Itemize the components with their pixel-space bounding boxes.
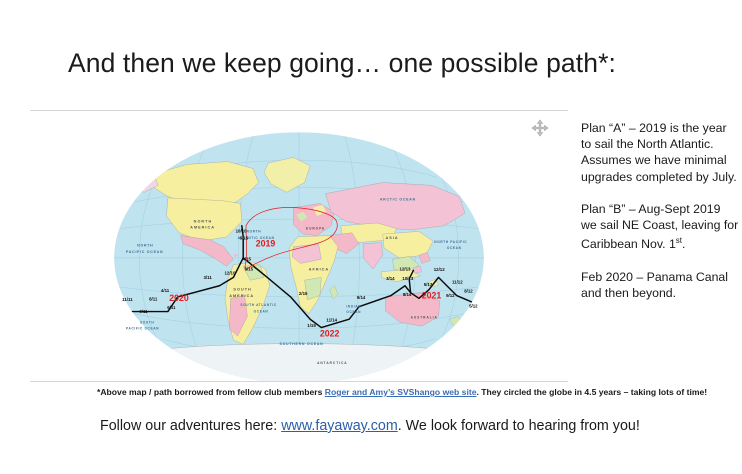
waypoint-label: 11/11 [122, 297, 133, 302]
page-title: And then we keep going… one possible pat… [68, 48, 616, 79]
plan-c-line-2: and then beyond. [581, 285, 742, 301]
waypoint-label: 5/13 [424, 282, 433, 287]
landmass-philippines [413, 266, 421, 273]
year-label: 2021 [422, 290, 442, 300]
plan-a-line-4: upgrades completed by July. [581, 169, 742, 185]
year-label: 2020 [169, 293, 189, 303]
continent-label: SOUTH [233, 288, 251, 292]
continent-label: AMERICA [229, 294, 254, 298]
year-label: 2022 [320, 329, 340, 339]
plan-b-line-2: we sail NE Coast, leaving for [581, 217, 742, 233]
ocean-label: OCEAN [346, 310, 361, 314]
waypoint-label: 11/14 [326, 317, 337, 322]
waypoint-label: 8/11 [149, 296, 158, 301]
ocean-label: NORTH [137, 244, 153, 248]
ocean-label: PACIFIC OCEAN [126, 250, 163, 254]
ocean-label: SOUTHERN OCEAN [279, 342, 323, 346]
ocean-label: INDIAN [346, 304, 361, 308]
continent-label: NORTH [194, 219, 213, 223]
plan-b-period: . [682, 237, 685, 251]
footnote: *Above map / path borrowed from fellow c… [97, 386, 737, 398]
waypoint-label: 2/15 [299, 291, 308, 296]
footnote-suffix: . They circled the globe in 4.5 years – … [476, 387, 707, 397]
notes-spacer-2 [581, 253, 742, 269]
closing-line: Follow our adventures here: www.fayaway.… [100, 418, 640, 434]
map-top-rule [30, 110, 568, 111]
waypoint-label: 10/10 [236, 229, 248, 234]
waypoint-label: 11/12 [452, 280, 463, 285]
world-map[interactable]: ARCTIC OCEANNORTHPACIFIC OCEANNORTHATLAN… [30, 110, 568, 382]
plan-b-line-1: Plan “B” – Aug-Sept 2019 [581, 201, 742, 217]
plan-b-line-3-text: Caribbean Nov. 1 [581, 237, 676, 251]
waypoint-label: 12/12 [434, 267, 446, 272]
waypoint-label: 8/12 [464, 289, 473, 294]
waypoint-label: 10/13 [402, 276, 414, 281]
waypoint-label: 6/15 [240, 236, 249, 241]
waypoint-label: 4/15 [242, 257, 251, 262]
waypoint-label: 9/14 [357, 295, 366, 300]
closing-suffix: . We look forward to hearing from you! [398, 418, 640, 434]
continent-label: ASIA [385, 236, 398, 240]
plan-b-line-3: Caribbean Nov. 1st. [581, 233, 742, 252]
fayaway-link[interactable]: www.fayaway.com [281, 418, 398, 434]
svshango-link[interactable]: Roger and Amy’s SVShango web site [325, 387, 477, 397]
map-bottom-rule [30, 381, 568, 382]
continent-label: AMERICA [190, 226, 215, 230]
ocean-label: NORTH [247, 230, 262, 234]
continent-label: ANTARCTICA [317, 361, 347, 365]
plan-a-line-3: Assumes we have minimal [581, 152, 742, 168]
waypoint-label: 9/11 [139, 309, 148, 314]
ocean-label: OCEAN [447, 246, 462, 250]
ocean-label: ARCTIC OCEAN [380, 198, 416, 202]
ocean-label: OCEAN [254, 309, 269, 313]
world-map-svg: ARCTIC OCEANNORTHPACIFIC OCEANNORTHATLAN… [30, 110, 568, 382]
waypoint-label: 12/13 [400, 266, 412, 271]
continent-label: AFRICA [309, 267, 329, 271]
waypoint-label: 3/11 [203, 275, 212, 280]
waypoint-label: 8/14 [403, 292, 412, 297]
continent-label: AUSTRALIA [411, 316, 438, 320]
waypoint-label: 6/11 [167, 305, 176, 310]
notes-panel: Plan “A” – 2019 is the year to sail the … [581, 120, 742, 301]
landmass-antarctica [119, 344, 480, 382]
continent-label: EUROPE [306, 226, 325, 230]
waypoint-label: 1/15 [307, 323, 316, 328]
footnote-prefix: *Above map / path borrowed from fellow c… [97, 387, 325, 397]
closing-prefix: Follow our adventures here: [100, 418, 281, 434]
waypoint-label: 9/12 [446, 293, 455, 298]
slide: And then we keep going… one possible pat… [0, 0, 742, 474]
ocean-label: NORTH PACIFIC [434, 240, 467, 244]
plan-c-line-1: Feb 2020 – Panama Canal [581, 269, 742, 285]
waypoint-label: 12/10 [224, 271, 236, 276]
year-label: 2019 [256, 239, 276, 249]
plan-a-line-1: Plan “A” – 2019 is the year [581, 120, 742, 136]
ocean-label: PACIFIC OCEAN [126, 327, 159, 331]
waypoint-label: 4/11 [161, 288, 170, 293]
ocean-label: SOUTH [140, 320, 154, 324]
ocean-label: SOUTH ATLANTIC [240, 303, 276, 307]
move-cursor-icon [531, 119, 549, 137]
plan-a-line-2: to sail the North Atlantic. [581, 136, 742, 152]
waypoint-label: 5/12 [469, 303, 478, 308]
notes-spacer-1 [581, 185, 742, 201]
waypoint-label: 3/14 [386, 276, 395, 281]
waypoint-label: 3/15 [245, 266, 254, 271]
